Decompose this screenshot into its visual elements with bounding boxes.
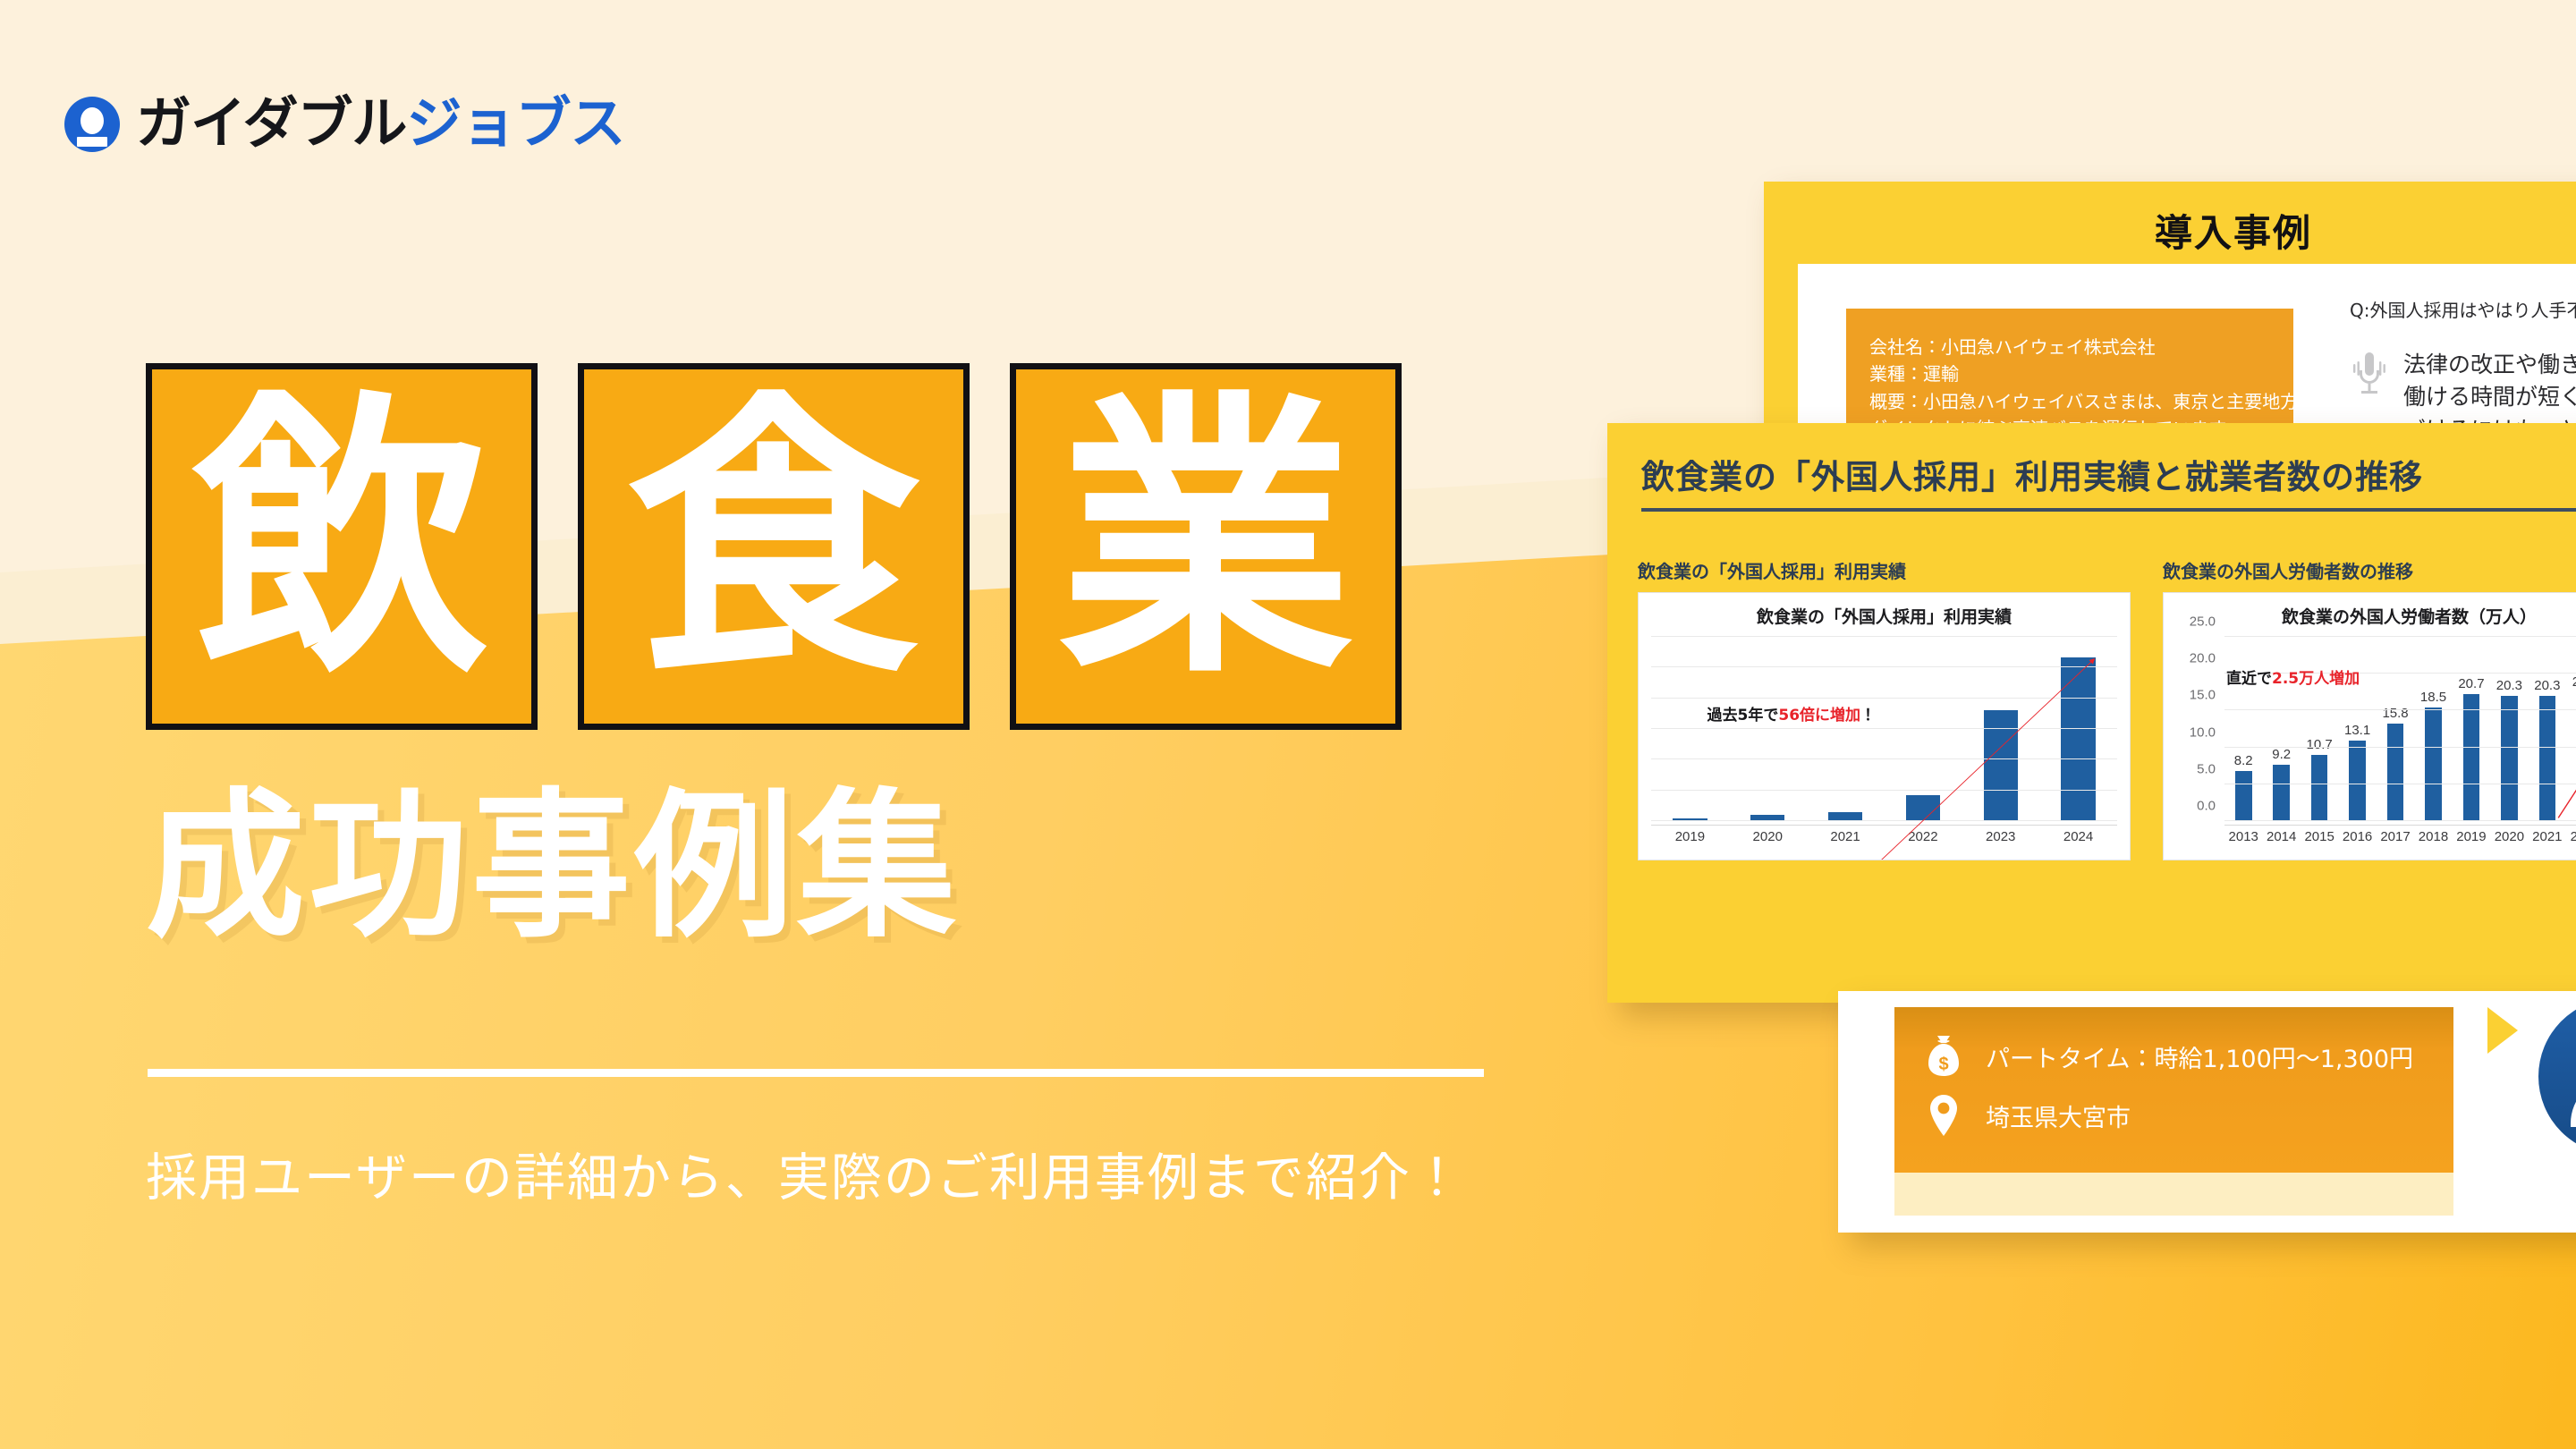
chart-bar xyxy=(2349,741,2366,821)
chart-panels: 飲食業の「外国人採用」利用実績 飲食業の「外国人採用」利用実績 過去5年で56倍… xyxy=(1638,557,2576,860)
slide-job-detail[interactable]: $ パートタイム：時給1,100円～1,300円 埼玉県大宮市 xyxy=(1838,991,2576,1233)
chart-gridline xyxy=(2224,747,2576,748)
chart-bar-column: 20.7 xyxy=(2453,637,2490,821)
money-bag-icon: $ xyxy=(1925,1034,1962,1079)
chart-gridline xyxy=(2224,784,2576,784)
brand-name-blue: ジョブス xyxy=(407,93,625,155)
chart-bar-column: 20.3 xyxy=(2490,637,2528,821)
chart-gridline xyxy=(1651,636,2117,637)
chart-x-axis: 201920202021202220232024 xyxy=(1651,825,2117,844)
chart-bar-column xyxy=(1729,637,1807,821)
chart-annotation: 過去5年で56倍に増加！ xyxy=(1707,702,1877,724)
chart-gridline xyxy=(2224,709,2576,710)
chart-card: 飲食業の「外国人採用」利用実績 過去5年で56倍に増加！ 20192020202… xyxy=(1638,592,2131,860)
chart-bar xyxy=(2539,696,2556,821)
chart-panel-workers: 飲食業の外国人労働者数の推移 飲食業の外国人労働者数（万人） 0.05.010.… xyxy=(2163,557,2576,860)
svg-text:$: $ xyxy=(1938,1055,1948,1074)
chart-bar-column xyxy=(1651,637,1729,821)
person-avatar-icon xyxy=(64,97,120,152)
chart-x-tick: 2021 xyxy=(1807,826,1885,844)
slide-header-band: 導入事例 xyxy=(1764,182,2576,264)
chart-bar-value: 13.1 xyxy=(2344,723,2370,738)
job-salary-label: パートタイム：時給1,100円～1,300円 xyxy=(1986,1039,2413,1074)
chart-bar-column: 9.2 xyxy=(2262,637,2300,821)
chart-bar xyxy=(2273,765,2290,821)
slide-statistics[interactable]: 飲食業の「外国人採用」利用実績と就業者数の推移 飲食業の「外国人採用」利用実績 … xyxy=(1607,423,2576,1003)
chart-bar-value: 20.7 xyxy=(2458,676,2484,691)
chart-bar xyxy=(2501,696,2518,821)
chart-y-tick: 10.0 xyxy=(2190,724,2216,740)
chart-y-axis: 0.05.010.015.020.025.0 xyxy=(2176,637,2221,821)
chart-y-tick: 0.0 xyxy=(2197,799,2216,814)
bar-chart-workers: 0.05.010.015.020.025.0 直近で2.5万人増加 8.29.2… xyxy=(2176,631,2576,844)
chart-x-tick: 2023 xyxy=(1962,826,2039,844)
chart-title: 飲食業の外国人労働者数（万人） xyxy=(2176,604,2576,628)
chart-gridline xyxy=(1651,698,2117,699)
kanji-boxes: 飲 食 業 xyxy=(146,363,1402,730)
chart-bar-value: 20.3 xyxy=(2534,678,2560,693)
brand-logo[interactable]: ガイダブルジョブス xyxy=(64,97,625,152)
chart-gridline xyxy=(1651,666,2117,667)
chart-x-tick: 2022 xyxy=(2566,826,2576,844)
person-avatar-icon xyxy=(2538,998,2576,1155)
chart-x-tick: 2019 xyxy=(1651,826,1729,844)
chart-gridline xyxy=(2224,820,2576,821)
chart-bar-value: 18.5 xyxy=(2420,690,2446,705)
chart-bar xyxy=(2463,694,2480,821)
chart-x-tick: 2024 xyxy=(2039,826,2117,844)
kanji-char: 食 xyxy=(626,401,921,682)
chart-bar xyxy=(2235,771,2252,821)
chart-bar-column: 18.5 xyxy=(2414,637,2452,821)
chart-bar-column xyxy=(1807,637,1885,821)
chart-panel-usage: 飲食業の「外国人採用」利用実績 飲食業の「外国人採用」利用実績 過去5年で56倍… xyxy=(1638,557,2131,860)
chart-gridline xyxy=(1651,758,2117,759)
title-rule xyxy=(1641,508,2576,512)
chart-bar xyxy=(2061,657,2095,821)
job-panel-strip xyxy=(1894,1173,2453,1216)
chart-y-tick: 15.0 xyxy=(2190,688,2216,703)
chart-title: 飲食業の「外国人採用」利用実績 xyxy=(1651,604,2117,628)
chart-y-tick: 20.0 xyxy=(2190,651,2216,666)
chart-gridline xyxy=(2224,636,2576,637)
chart-y-tick: 5.0 xyxy=(2197,761,2216,776)
chart-x-tick: 2020 xyxy=(2490,826,2528,844)
chart-bar-column xyxy=(2039,637,2117,821)
chart-x-tick: 2020 xyxy=(1729,826,1807,844)
brand-name-dark: ガイダブル xyxy=(136,93,407,155)
job-detail-row: 埼玉県大宮市 xyxy=(1894,1086,2453,1145)
chart-bar-column xyxy=(1884,637,1962,821)
chart-bar xyxy=(1984,710,2018,821)
chart-bar-column: 13.1 xyxy=(2338,637,2376,821)
chart-x-tick: 2014 xyxy=(2262,826,2300,844)
kanji-box: 業 xyxy=(1010,363,1402,730)
job-location-label: 埼玉県大宮市 xyxy=(1986,1098,2131,1133)
chart-gridline xyxy=(1651,820,2117,821)
chart-card: 飲食業の外国人労働者数（万人） 0.05.010.015.020.025.0 直… xyxy=(2163,592,2576,860)
chart-bar-value: 20.9 xyxy=(2572,674,2576,690)
location-pin-icon xyxy=(1925,1093,1962,1138)
chart-x-tick: 2019 xyxy=(2453,826,2490,844)
chart-gridline xyxy=(1651,790,2117,791)
kanji-box: 食 xyxy=(578,363,970,730)
chart-bar-value: 10.7 xyxy=(2307,737,2333,752)
divider xyxy=(148,1069,1484,1077)
company-info-line: 会社名：小田急ハイウェイ株式会社 xyxy=(1869,334,2274,360)
interview-question: Q:外国人採用はやはり人手不足が理由でしょう xyxy=(2350,296,2576,322)
bar-chart-usage: 過去5年で56倍に増加！ 201920202021202220232024 xyxy=(1651,631,2117,844)
chart-x-tick: 2022 xyxy=(1884,826,1962,844)
chart-bar-value: 20.3 xyxy=(2496,678,2522,693)
interview-answer-line: 法律の改正や働き方改革の影響で、 xyxy=(2403,349,2576,381)
chart-bar-column: 20.9 xyxy=(2566,637,2576,821)
chart-bar-column: 8.2 xyxy=(2224,637,2262,821)
chart-bar-column: 20.3 xyxy=(2529,637,2566,821)
chart-bar xyxy=(2387,724,2404,821)
chart-panel-subtitle: 飲食業の外国人労働者数の推移 xyxy=(2163,557,2576,583)
chart-gridline xyxy=(1651,728,2117,729)
slide-title: 導入事例 xyxy=(1764,203,2576,258)
chart-x-tick: 2015 xyxy=(2301,826,2338,844)
interview-answer-line: 働ける時間が短くなったので、現状 xyxy=(2403,381,2576,413)
chart-bar-value: 15.8 xyxy=(2382,706,2408,721)
chevron-right-icon xyxy=(2487,1007,2518,1054)
chart-x-tick: 2017 xyxy=(2377,826,2414,844)
page-title: 成功事例集 xyxy=(146,787,960,946)
chart-bar xyxy=(2311,755,2328,821)
chart-y-tick: 25.0 xyxy=(2190,614,2216,630)
job-detail-row: $ パートタイム：時給1,100円～1,300円 xyxy=(1894,1027,2453,1086)
chart-bar-column: 15.8 xyxy=(2377,637,2414,821)
chart-bars xyxy=(1651,637,2117,821)
chart-bar xyxy=(1906,795,1940,821)
chart-bar-value: 8.2 xyxy=(2234,753,2253,768)
page-subtitle: 採用ユーザーの詳細から、実際のご利用事例まで紹介！ xyxy=(146,1147,1464,1210)
chart-x-tick: 2013 xyxy=(2224,826,2262,844)
chart-panel-subtitle: 飲食業の「外国人採用」利用実績 xyxy=(1638,557,2131,583)
kanji-char: 飲 xyxy=(194,401,489,682)
chart-x-tick: 2018 xyxy=(2414,826,2452,844)
brand-wordmark: ガイダブルジョブス xyxy=(136,97,625,152)
chart-x-axis: 2013201420152016201720182019202020212022… xyxy=(2224,825,2576,844)
chart-bar xyxy=(2425,708,2442,821)
kanji-char: 業 xyxy=(1058,401,1353,682)
chart-bar-value: 9.2 xyxy=(2272,747,2291,762)
chart-bar-column: 10.7 xyxy=(2301,637,2338,821)
job-detail-panel: $ パートタイム：時給1,100円～1,300円 埼玉県大宮市 xyxy=(1894,1007,2453,1173)
kanji-box: 飲 xyxy=(146,363,538,730)
chart-x-tick: 2021 xyxy=(2529,826,2566,844)
chart-x-tick: 2016 xyxy=(2338,826,2376,844)
company-info-line: 概要：小田急ハイウェイバスさまは、東京と主要地方都市を xyxy=(1869,388,2274,415)
chart-bars: 8.29.210.713.115.818.520.720.320.320.923… xyxy=(2224,637,2576,821)
chart-annotation: 直近で2.5万人増加 xyxy=(2226,665,2360,688)
slide-title: 飲食業の「外国人採用」利用実績と就業者数の推移 xyxy=(1641,450,2423,498)
company-info-line: 業種：運輸 xyxy=(1869,360,2274,387)
chart-bar-column xyxy=(1962,637,2039,821)
